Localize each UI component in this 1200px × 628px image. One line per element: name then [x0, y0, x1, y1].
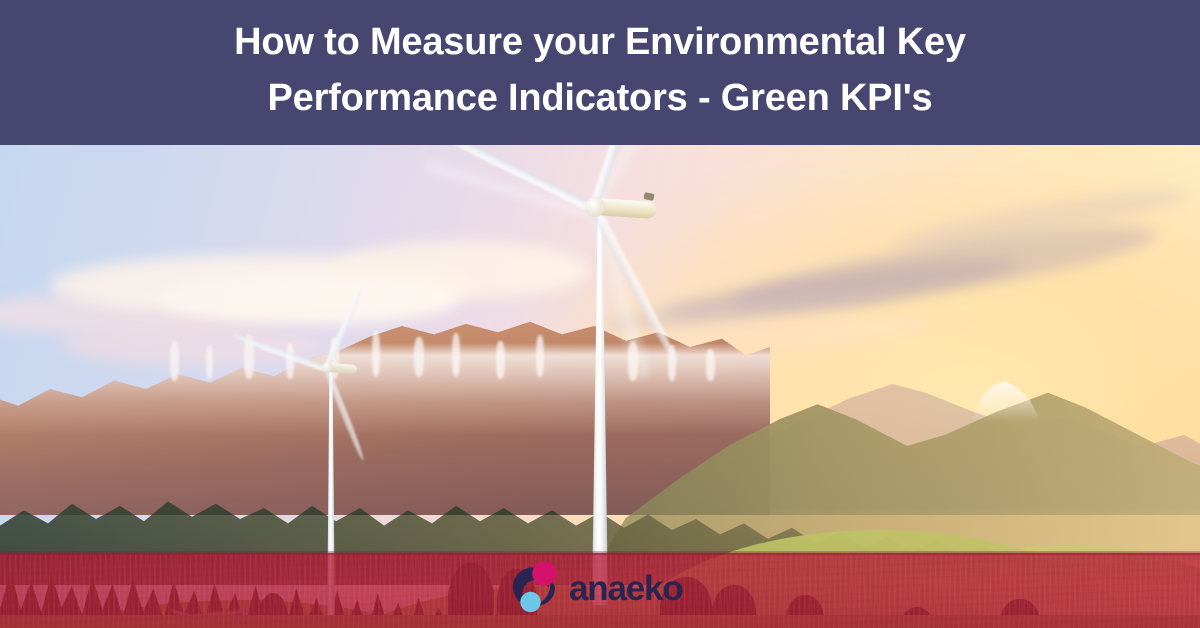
- page-title-line-1: How to Measure your Environmental Key: [234, 21, 966, 63]
- turbine-hub: [585, 197, 605, 217]
- anaeko-swirl-icon: [505, 558, 563, 616]
- pink-circle-icon: [532, 561, 556, 585]
- anaeko-logo-mark: [505, 558, 563, 616]
- social-share-banner: How to Measure your Environmental Key Pe…: [0, 0, 1200, 628]
- page-title: How to Measure your Environmental Key Pe…: [100, 15, 1100, 129]
- blue-circle-icon: [520, 592, 540, 612]
- overlay-top-edge: [0, 551, 1200, 555]
- anaeko-wordmark: anaeko: [569, 571, 682, 606]
- anaeko-logo[interactable]: anaeko: [505, 558, 695, 616]
- banner-header: How to Measure your Environmental Key Pe…: [0, 0, 1200, 145]
- turbine-vane: [643, 192, 654, 201]
- page-title-line-2: Performance Indicators - Green KPI's: [268, 77, 933, 119]
